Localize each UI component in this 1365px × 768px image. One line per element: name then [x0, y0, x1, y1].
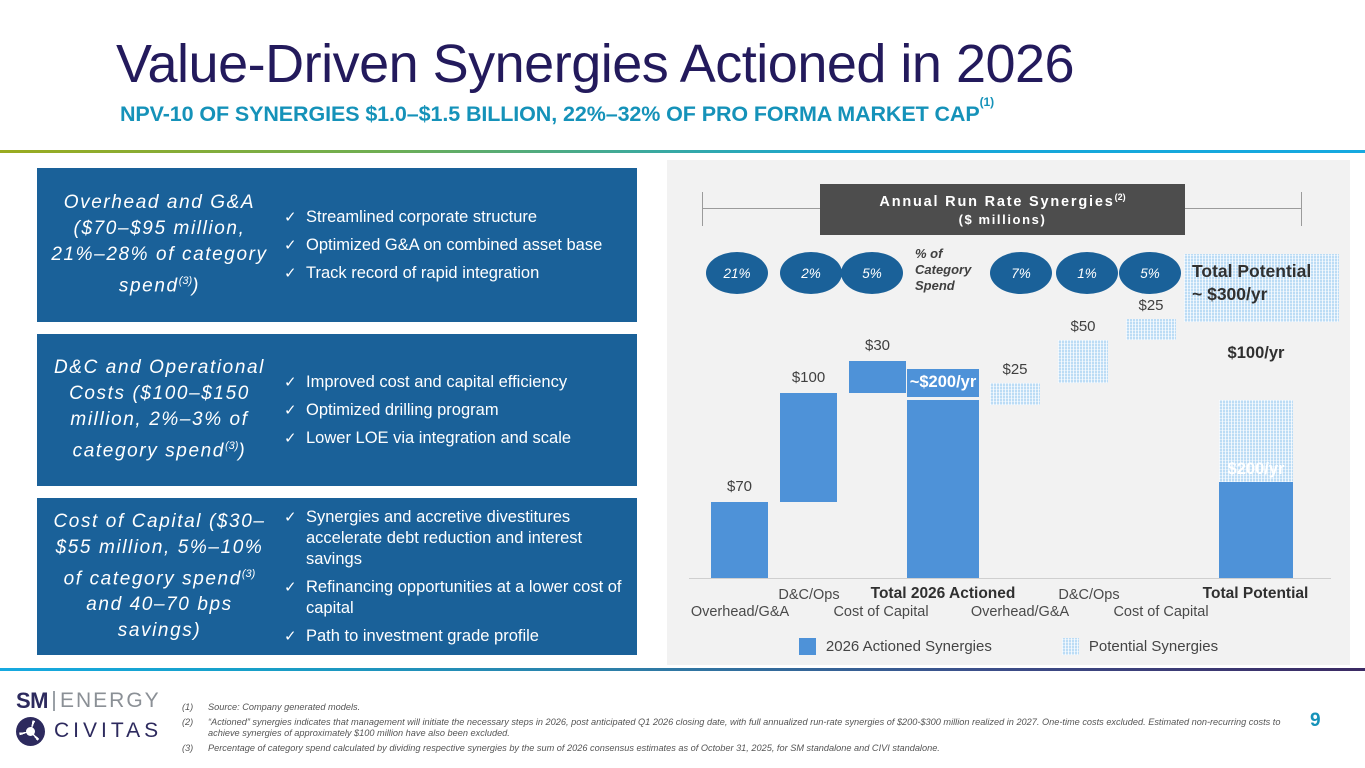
bar-label-coc-potential: $25: [1116, 297, 1186, 314]
list-item: ✓ Track record of rapid integration: [284, 263, 625, 284]
subtitle-footnote-ref: (1): [980, 95, 994, 109]
page-subtitle-text: NPV-10 OF SYNERGIES $1.0–$1.5 BILLION, 2…: [120, 102, 980, 126]
bar-label-total-potential-solid: $200/yr: [1215, 460, 1297, 479]
footnotes: (1) Source: Company generated models. (2…: [182, 702, 1292, 757]
bar-label-overhead-actioned: $70: [701, 478, 778, 495]
legend-item-potential: Potential Synergies: [1062, 638, 1218, 655]
panel-title-tail: ): [192, 276, 200, 297]
axis-baseline-right: [1151, 578, 1331, 579]
bar-overhead-actioned: [711, 502, 768, 578]
list-item-label: Path to investment grade profile: [306, 626, 625, 647]
legend-swatch-potential-icon: [1062, 638, 1079, 655]
bar-coc-actioned: [849, 361, 906, 393]
bar-overhead-potential: [990, 383, 1040, 405]
panel-title-tail: and 40–70 bps savings): [86, 594, 233, 641]
bar-total-potential-solid: [1219, 482, 1293, 578]
cat-label-total-actioned: Total 2026 Actioned: [865, 585, 1021, 603]
panel-title-footnote-ref: (3): [242, 568, 255, 580]
panel-overhead-ga: Overhead and G&A ($70–$95 million, 21%–2…: [37, 168, 637, 322]
footnote-3-number: (3): [182, 743, 208, 755]
logo-civitas: CIVITAS: [16, 716, 196, 746]
cat-label-overhead-actioned: Overhead/G&A: [677, 604, 803, 620]
list-item-label: Improved cost and capital efficiency: [306, 372, 625, 393]
list-item: ✓ Refinancing opportunities at a lower c…: [284, 577, 625, 619]
footnote-3: (3) Percentage of category spend calcula…: [182, 743, 1292, 755]
panel-title-tail: ): [238, 441, 246, 462]
footer-divider: [0, 668, 1365, 671]
list-item-label: Lower LOE via integration and scale: [306, 428, 625, 449]
chart-plot-area: $70 $100 $30 ~$200/yr $25 $50 $25 $100/y…: [667, 160, 1350, 665]
bar-total-actioned: [907, 400, 979, 578]
bar-dcops-potential: [1058, 340, 1108, 383]
panel-bullets-dc-operational: ✓ Improved cost and capital efficiency ✓…: [282, 359, 637, 462]
panel-cost-of-capital: Cost of Capital ($30–$55 million, 5%–10%…: [37, 498, 637, 655]
legend-item-actioned: 2026 Actioned Synergies: [799, 638, 992, 655]
panel-title-footnote-ref: (3): [225, 440, 238, 452]
check-icon: ✓: [284, 235, 306, 256]
list-item-label: Synergies and accretive divestitures acc…: [306, 507, 625, 570]
panel-title-text: Cost of Capital ($30–$55 million, 5%–10%…: [53, 511, 265, 589]
footnote-2-number: (2): [182, 717, 208, 740]
legend-swatch-actioned-icon: [799, 638, 816, 655]
check-icon: ✓: [284, 400, 306, 421]
synergy-categories-column: Overhead and G&A ($70–$95 million, 21%–2…: [37, 168, 637, 667]
check-icon: ✓: [284, 507, 306, 528]
chart-legend: 2026 Actioned Synergies Potential Synerg…: [667, 633, 1350, 659]
civitas-mark-icon: [16, 717, 45, 746]
cat-label-coc-potential: Cost of Capital: [1101, 604, 1221, 620]
footnote-2-text: “Actioned” synergies indicates that mana…: [208, 717, 1292, 740]
panel-title-dc-operational: D&C and Operational Costs ($100–$150 mil…: [37, 349, 282, 470]
footnote-1: (1) Source: Company generated models.: [182, 702, 1292, 714]
bar-coc-potential: [1126, 319, 1176, 340]
check-icon: ✓: [284, 577, 306, 598]
check-icon: ✓: [284, 626, 306, 647]
logo-civitas-text: CIVITAS: [54, 719, 162, 743]
list-item-label: Optimized G&A on combined asset base: [306, 235, 625, 256]
logo-sm-energy: SM ENERGY: [16, 688, 196, 714]
bar-label-dcops-potential: $50: [1048, 318, 1118, 335]
legend-label-potential: Potential Synergies: [1089, 638, 1218, 655]
panel-bullets-cost-of-capital: ✓ Synergies and accretive divestitures a…: [282, 494, 637, 660]
cat-label-dcops-potential: D&C/Ops: [1044, 587, 1134, 603]
cat-label-overhead-potential: Overhead/G&A: [957, 604, 1083, 620]
footnote-2: (2) “Actioned” synergies indicates that …: [182, 717, 1292, 740]
bar-label-total-actioned: ~$200/yr: [907, 373, 979, 392]
check-icon: ✓: [284, 428, 306, 449]
bar-label-coc-actioned: $30: [839, 337, 916, 354]
legend-label-actioned: 2026 Actioned Synergies: [826, 638, 992, 655]
list-item: ✓ Path to investment grade profile: [284, 626, 625, 647]
panel-title-cost-of-capital: Cost of Capital ($30–$55 million, 5%–10%…: [37, 503, 282, 650]
list-item-label: Refinancing opportunities at a lower cos…: [306, 577, 625, 619]
footnote-1-number: (1): [182, 702, 208, 714]
bar-dcops-actioned: [780, 393, 837, 502]
page-subtitle: NPV-10 OF SYNERGIES $1.0–$1.5 BILLION, 2…: [120, 102, 994, 127]
check-icon: ✓: [284, 263, 306, 284]
bar-label-total-potential-hatch: $100/yr: [1215, 344, 1297, 363]
list-item: ✓ Improved cost and capital efficiency: [284, 372, 625, 393]
list-item-label: Optimized drilling program: [306, 400, 625, 421]
cat-label-coc-actioned: Cost of Capital: [821, 604, 941, 620]
logo-sm-text: SM: [16, 688, 48, 714]
slide: Value-Driven Synergies Actioned in 2026 …: [0, 0, 1365, 768]
list-item-label: Track record of rapid integration: [306, 263, 625, 284]
logo-energy-text: ENERGY: [60, 689, 161, 713]
panel-bullets-overhead-ga: ✓ Streamlined corporate structure ✓ Opti…: [282, 194, 637, 297]
cat-label-dcops-actioned: D&C/Ops: [764, 587, 854, 603]
company-logo: SM ENERGY CIVITAS: [16, 688, 196, 746]
footnote-3-text: Percentage of category spend calculated …: [208, 743, 1292, 755]
check-icon: ✓: [284, 207, 306, 228]
list-item-label: Streamlined corporate structure: [306, 207, 625, 228]
list-item: ✓ Lower LOE via integration and scale: [284, 428, 625, 449]
list-item: ✓ Optimized G&A on combined asset base: [284, 235, 625, 256]
list-item: ✓ Optimized drilling program: [284, 400, 625, 421]
page-title: Value-Driven Synergies Actioned in 2026: [116, 34, 1074, 94]
footnote-1-text: Source: Company generated models.: [208, 702, 1292, 714]
panel-dc-operational: D&C and Operational Costs ($100–$150 mil…: [37, 334, 637, 486]
list-item: ✓ Synergies and accretive divestitures a…: [284, 507, 625, 570]
check-icon: ✓: [284, 372, 306, 393]
panel-title-overhead-ga: Overhead and G&A ($70–$95 million, 21%–2…: [37, 184, 282, 305]
panel-title-text: Overhead and G&A ($70–$95 million, 21%–2…: [51, 192, 267, 296]
bar-label-dcops-actioned: $100: [770, 369, 847, 386]
bar-label-overhead-potential: $25: [980, 361, 1050, 378]
axis-baseline-mid: [840, 578, 1160, 579]
list-item: ✓ Streamlined corporate structure: [284, 207, 625, 228]
logo-divider: [53, 691, 55, 711]
page-number: 9: [1310, 710, 1321, 732]
header-divider: [0, 150, 1365, 153]
cat-label-total-potential: Total Potential: [1190, 585, 1321, 603]
panel-title-footnote-ref: (3): [179, 275, 192, 287]
